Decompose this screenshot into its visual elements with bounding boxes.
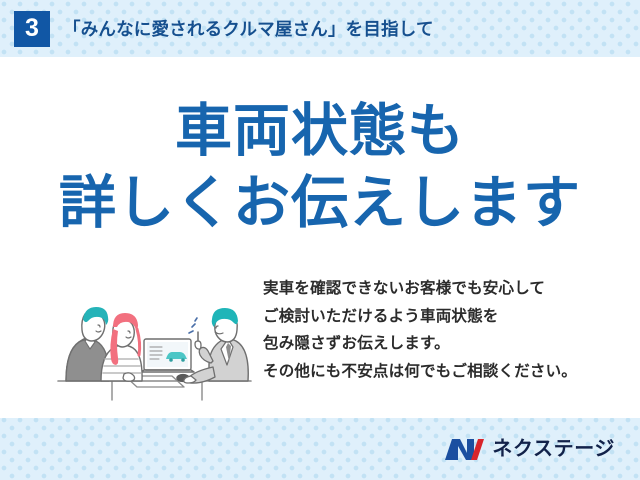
footer-bar: ネクステージ [0,418,640,480]
body-copy: 実車を確認できないお客様でも安心して ご検討いただけるよう車両状態を 包み隠さず… [263,275,640,385]
consultation-illustration [52,277,257,402]
content-card: 車両状態も 詳しくお伝えします [0,57,640,418]
body-copy-line-2: ご検討いただけるよう車両状態を [263,303,640,331]
brand-logo: ネクステージ [444,437,615,462]
lower-area: 実車を確認できないお客様でも安心して ご検討いただけるよう車両状態を 包み隠さず… [0,275,640,415]
headline-line-2: 詳しくお伝えします [0,173,640,233]
body-copy-line-4: その他にも不安点は何でもご相談ください。 [263,358,640,386]
headline-line-1: 車両状態も [0,101,640,161]
header-bar: 3 「みんなに愛されるクルマ屋さん」を目指して [0,0,640,57]
headline: 車両状態も 詳しくお伝えします [0,101,640,234]
step-number-badge: 3 [14,11,50,47]
advertisement-poster: 3 「みんなに愛されるクルマ屋さん」を目指して 車両状態も 詳しくお伝えします [0,0,640,480]
nextage-n-mark-icon [444,437,484,462]
brand-name: ネクステージ [492,439,615,459]
body-copy-line-3: 包み隠さずお伝えします。 [263,330,640,358]
header-title: 「みんなに愛されるクルマ屋さん」を目指して [63,16,434,41]
body-copy-line-1: 実車を確認できないお客様でも安心して [263,275,640,303]
